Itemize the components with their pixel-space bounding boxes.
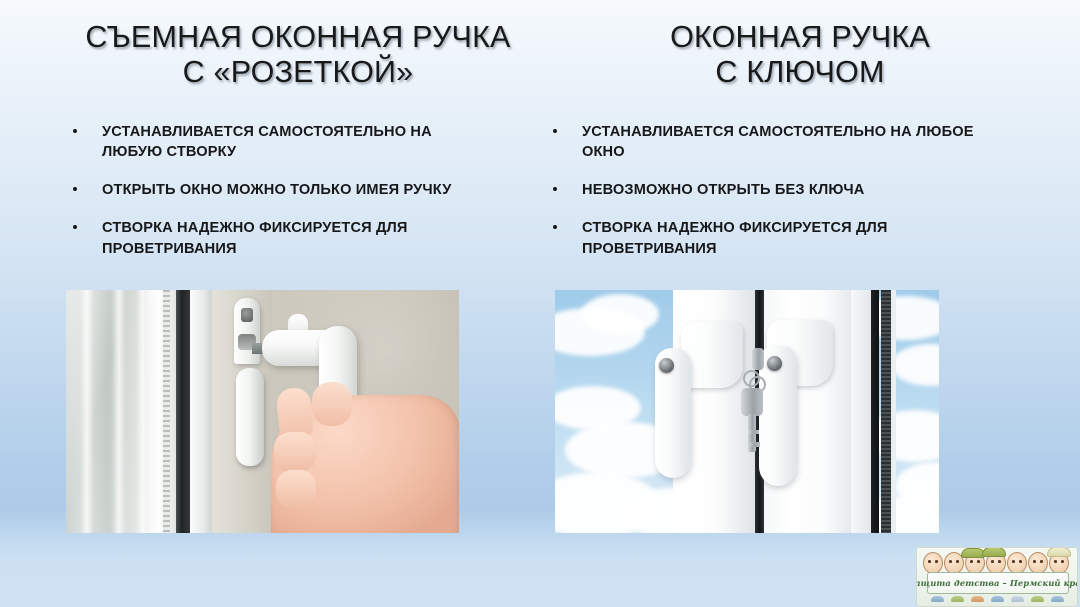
sun-hat-icon bbox=[1047, 547, 1071, 557]
list-item: НЕВОЗМОЖНО ОТКРЫТЬ БЕЗ КЛЮЧА bbox=[548, 180, 998, 200]
bullet-dot-icon bbox=[73, 187, 77, 191]
photo-removable-window-handle bbox=[66, 290, 459, 533]
glass-reflection-streak bbox=[112, 290, 126, 533]
list-item-label: ОТКРЫТЬ ОКНО МОЖНО ТОЛЬКО ИМЕЯ РУЧКУ bbox=[102, 182, 451, 198]
list-item: СТВОРКА НАДЕЖНО ФИКСИРУЕТСЯ ДЛЯ ПРОВЕТРИ… bbox=[68, 218, 488, 258]
list-item-label: УСТАНАВЛИВАЕТСЯ САМОСТОЯТЕЛЬНО НА ЛЮБУЮ … bbox=[102, 124, 432, 160]
list-item-label: СТВОРКА НАДЕЖНО ФИКСИРУЕТСЯ ДЛЯ ПРОВЕТРИ… bbox=[582, 220, 888, 256]
lock-cylinder-right bbox=[767, 356, 782, 371]
window-seal-edge bbox=[891, 290, 896, 533]
rosette-cover-flap bbox=[236, 368, 264, 466]
child-head-icon bbox=[1028, 552, 1048, 574]
bullet-list-right: УСТАНАВЛИВАЕТСЯ САМОСТОЯТЕЛЬНО НА ЛЮБОЕ … bbox=[548, 122, 998, 259]
shoe-icon bbox=[931, 596, 944, 602]
shoe-icon bbox=[1011, 596, 1024, 602]
list-item: СТВОРКА НАДЕЖНО ФИКСИРУЕТСЯ ДЛЯ ПРОВЕТРИ… bbox=[548, 218, 998, 258]
page-title-left-column: СЪЕМНАЯ ОКОННАЯ РУЧКА С «РОЗЕТКОЙ» bbox=[48, 20, 548, 90]
list-item: УСТАНАВЛИВАЕТСЯ САМОСТОЯТЕЛЬНО НА ЛЮБУЮ … bbox=[68, 122, 488, 162]
child-head-icon bbox=[1007, 552, 1027, 574]
logo-caption: Защита детства – Пермский край bbox=[916, 578, 1078, 588]
lock-cylinder-left bbox=[659, 358, 674, 373]
hand-finger bbox=[273, 431, 317, 473]
key-bow bbox=[741, 388, 763, 416]
window-frame-gap bbox=[176, 290, 190, 533]
window-seal-ribbed bbox=[881, 290, 891, 533]
shoe-icon bbox=[951, 596, 964, 602]
window-seal-dark bbox=[871, 290, 879, 533]
bullet-dot-icon bbox=[73, 129, 77, 133]
logo-text-band: Защита детства – Пермский край bbox=[927, 572, 1069, 594]
bullet-dot-icon bbox=[553, 187, 557, 191]
photo-key-lock-window-handle bbox=[555, 290, 939, 533]
window-right-panel bbox=[851, 290, 871, 533]
hand-finger bbox=[276, 470, 316, 508]
sun-hat-icon bbox=[982, 547, 1006, 557]
key-head bbox=[752, 348, 764, 370]
list-item-label: СТВОРКА НАДЕЖНО ФИКСИРУЕТСЯ ДЛЯ ПРОВЕТРИ… bbox=[102, 220, 408, 256]
key-tooth bbox=[748, 442, 760, 447]
list-item: УСТАНАВЛИВАЕТСЯ САМОСТОЯТЕЛЬНО НА ЛЮБОЕ … bbox=[548, 122, 998, 162]
logo-zashchita-detstva: Защита детства – Пермский край bbox=[916, 547, 1078, 607]
shoe-icon bbox=[991, 596, 1004, 602]
key-tooth bbox=[748, 430, 759, 434]
bullet-dot-icon bbox=[553, 225, 557, 229]
bullet-list-left: УСТАНАВЛИВАЕТСЯ САМОСТОЯТЕЛЬНО НА ЛЮБУЮ … bbox=[68, 122, 488, 259]
shoe-icon bbox=[971, 596, 984, 602]
bullet-dot-icon bbox=[553, 129, 557, 133]
shoe-icon bbox=[1031, 596, 1044, 602]
page-title-right-column: ОКОННАЯ РУЧКА С КЛЮЧОМ bbox=[580, 20, 1020, 90]
slide-canvas: СЪЕМНАЯ ОКОННАЯ РУЧКА С «РОЗЕТКОЙ» ОКОНН… bbox=[0, 0, 1080, 607]
cloud bbox=[581, 294, 659, 334]
list-item-label: УСТАНАВЛИВАЕТСЯ САМОСТОЯТЕЛЬНО НА ЛЮБОЕ … bbox=[582, 124, 974, 160]
window-seal-strip bbox=[163, 290, 170, 533]
bullet-dot-icon bbox=[73, 225, 77, 229]
shoe-icon bbox=[1051, 596, 1064, 602]
list-item-label: НЕВОЗМОЖНО ОТКРЫТЬ БЕЗ КЛЮЧА bbox=[582, 182, 864, 198]
rosette-hole bbox=[241, 308, 253, 322]
glass-reflection-streak bbox=[80, 290, 94, 533]
list-item: ОТКРЫТЬ ОКНО МОЖНО ТОЛЬКО ИМЕЯ РУЧКУ bbox=[68, 180, 488, 200]
window-frame-inner bbox=[190, 290, 212, 533]
child-head-icon bbox=[923, 552, 943, 574]
hand-thumb bbox=[312, 382, 352, 426]
